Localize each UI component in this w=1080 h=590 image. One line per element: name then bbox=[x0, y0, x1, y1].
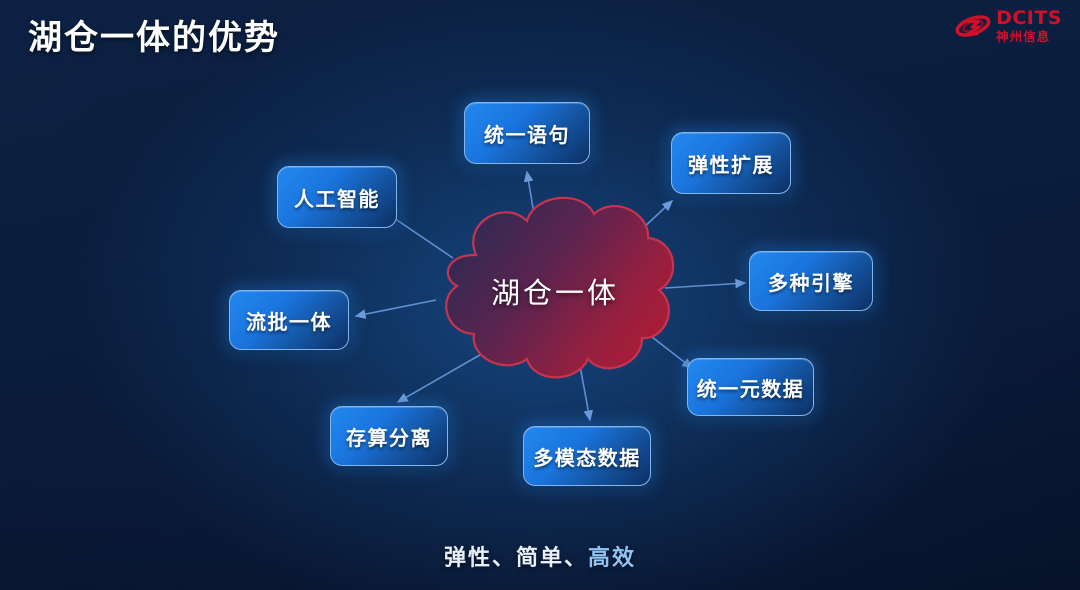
node-label: 弹性扩展 bbox=[688, 149, 774, 178]
slide-canvas: 湖仓一体的优势 DCITS 神州信息 bbox=[0, 0, 1080, 590]
center-cloud-label: 湖仓一体 bbox=[455, 270, 655, 312]
tagline-part-1: 弹性、简单、 bbox=[444, 546, 588, 571]
node-storage-compute-separation[interactable]: 存算分离 bbox=[330, 406, 448, 466]
node-multimodal-data[interactable]: 多模态数据 bbox=[523, 426, 651, 486]
arrow-to-storage-compute bbox=[398, 348, 492, 402]
node-label: 统一语句 bbox=[484, 119, 570, 148]
arrow-to-stream-batch bbox=[356, 300, 436, 316]
node-label: 流批一体 bbox=[246, 306, 332, 335]
node-unified-syntax[interactable]: 统一语句 bbox=[464, 102, 590, 164]
node-label: 存算分离 bbox=[346, 422, 432, 451]
node-label: 统一元数据 bbox=[697, 373, 805, 402]
arrow-to-multi-engine bbox=[665, 283, 745, 288]
node-label: 多模态数据 bbox=[533, 442, 641, 471]
node-unified-metadata[interactable]: 统一元数据 bbox=[687, 358, 814, 416]
node-artificial-intelligence[interactable]: 人工智能 bbox=[277, 166, 397, 228]
node-stream-batch-unification[interactable]: 流批一体 bbox=[229, 290, 349, 350]
node-multi-engine[interactable]: 多种引擎 bbox=[749, 251, 873, 311]
tagline-part-2: 高效 bbox=[588, 546, 636, 571]
node-label: 人工智能 bbox=[294, 183, 380, 212]
node-label: 多种引擎 bbox=[768, 267, 854, 296]
node-elastic-scaling[interactable]: 弹性扩展 bbox=[671, 132, 791, 194]
footer-tagline: 弹性、简单、高效 bbox=[0, 540, 1080, 572]
